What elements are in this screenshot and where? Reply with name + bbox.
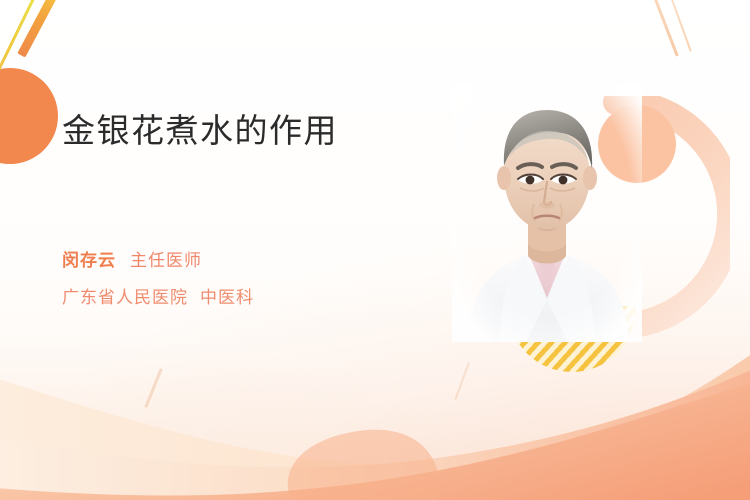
doctor-name: 闵存云 xyxy=(62,246,116,271)
affiliation: 广东省人民医院 中医科 xyxy=(62,283,442,308)
byline: 闵存云 主任医师 xyxy=(62,246,442,271)
orange-circle-decoration xyxy=(0,68,58,164)
doctor-title: 主任医师 xyxy=(130,246,202,271)
faint-diagonal-stripe-icon-middle xyxy=(454,362,470,400)
video-cover-card: 金银花煮水的作用 闵存云 主任医师 广东省人民医院 中医科 xyxy=(0,0,750,500)
peach-diagonal-stripe-icon-b xyxy=(666,0,692,52)
text-block: 金银花煮水的作用 闵存云 主任医师 广东省人民医院 中医科 xyxy=(62,110,442,308)
orange-diagonal-stripe-icon xyxy=(17,0,60,58)
doctor-portrait xyxy=(452,84,642,342)
yellow-diagonal-stripe-icon xyxy=(0,0,38,88)
bottom-wave-back xyxy=(0,326,750,500)
bottom-wave-mid xyxy=(0,356,750,500)
faint-diagonal-stripe-icon-left xyxy=(144,368,163,408)
department-name: 中医科 xyxy=(200,283,254,308)
bottom-wave-front xyxy=(0,374,750,500)
hospital-name: 广东省人民医院 xyxy=(62,283,188,308)
page-title: 金银花煮水的作用 xyxy=(62,110,442,151)
peach-diagonal-stripe-icon-a xyxy=(648,0,679,57)
